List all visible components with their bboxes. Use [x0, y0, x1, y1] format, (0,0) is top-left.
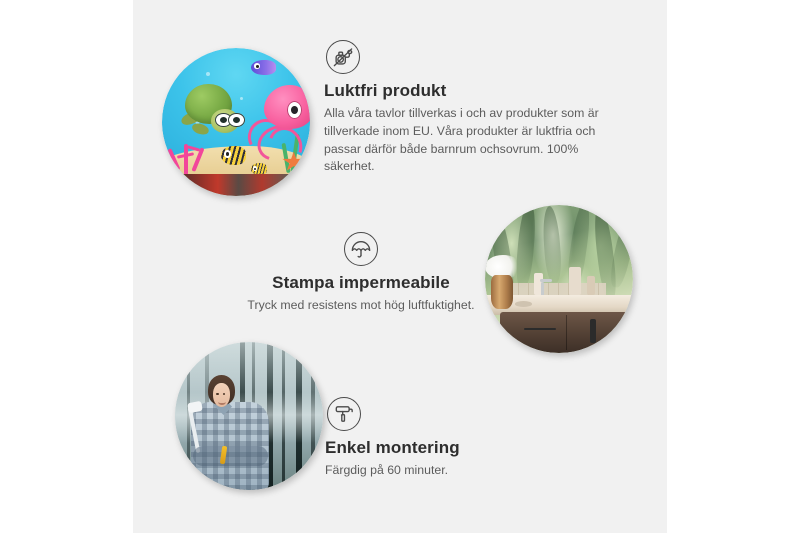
feature-body: Färgdig på 60 minuter. [325, 462, 575, 480]
blue-fish-icon [251, 60, 276, 75]
feature-title: Enkel montering [325, 438, 575, 458]
coral-icon [165, 131, 215, 175]
drawer-handle-icon [524, 328, 556, 330]
screenshot-root: Luktfri produkt Alla våra tavlor tillver… [0, 0, 800, 533]
feature-title: Stampa impermeabile [193, 273, 529, 293]
octopus-icon [246, 85, 310, 159]
paint-roller-icon [327, 397, 361, 431]
feature-easy-assembly: Enkel montering Färgdig på 60 minuter. [325, 397, 575, 480]
yellow-fish-icon [221, 146, 246, 165]
feature-panel: Luktfri produkt Alla våra tavlor tillver… [133, 0, 667, 533]
feature-body: Alla våra tavlor tillverkas i och av pro… [324, 105, 624, 176]
bottle-icon [587, 276, 594, 295]
no-odour-perfume-bottle-icon [326, 40, 360, 74]
photo-bottom-strip [171, 174, 301, 196]
woman-paint-roller-forest-circle-photo [175, 342, 323, 490]
feature-body: Tryck med resistens mot hög luftfuktighe… [193, 297, 529, 315]
umbrella-rain-icon [344, 232, 378, 266]
feature-odour-free: Luktfri produkt Alla våra tavlor tillver… [324, 40, 624, 176]
underwater-cartoon-circle-photo [162, 48, 310, 196]
feature-waterproof: Stampa impermeabile Tryck med resistens … [193, 232, 529, 315]
bottle-icon [569, 267, 581, 295]
door-handle-icon [590, 319, 595, 343]
feature-title: Luktfri produkt [324, 81, 624, 101]
wooden-vanity-cabinet [500, 312, 633, 353]
woman-figure [187, 375, 276, 490]
